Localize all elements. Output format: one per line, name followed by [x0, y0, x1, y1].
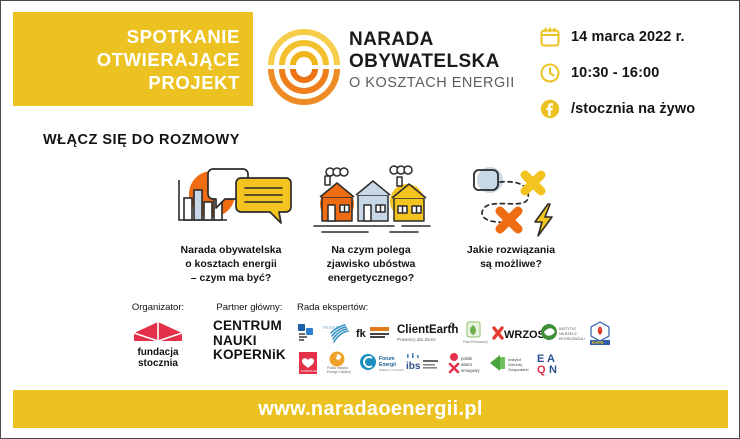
fundacja-stocznia-logo: fundacjastocznia — [129, 319, 187, 369]
experts-logo: FUNDACJA — [297, 350, 319, 376]
topic-panel-1: Narada obywatelskao kosztach energii– cz… — [161, 164, 301, 289]
svg-text:polski: polski — [461, 356, 472, 361]
experts-logo: Instytut Zielonej Gospodarki — [488, 350, 530, 376]
svg-text:NA RZECZ: NA RZECZ — [559, 332, 578, 336]
brand-wordmark: NARADA OBYWATELSKA O KOSZTACH ENERGII — [349, 29, 515, 93]
topic-caption-3: Jakie rozwiązaniasą możliwe? — [467, 243, 555, 271]
brand-line-2: OBYWATELSKA — [349, 51, 515, 73]
experts-logo — [297, 320, 314, 346]
svg-text:fk: fk — [356, 328, 367, 340]
svg-text:KAPE: KAPE — [592, 340, 604, 345]
svg-text:EKOROZWOJU: EKOROZWOJU — [559, 337, 585, 341]
cnk-line-3: KOPERNiK — [213, 348, 286, 363]
event-social-text: /stocznia na żywo — [571, 101, 695, 117]
event-date-row: 14 marca 2022 r. — [539, 23, 695, 51]
organizer-block: Organizator: fundacjastocznia — [129, 302, 187, 369]
cnk-line-1: CENTRUM — [213, 319, 286, 334]
cnk-line-2: NAUKI — [213, 334, 286, 349]
experts-block: Rada ekspertów: FEnIKS — [297, 302, 627, 378]
event-social-row[interactable]: /stocznia na żywo — [539, 95, 695, 123]
brand-line-1: NARADA — [349, 29, 515, 51]
topic-caption-1: Narada obywatelskao kosztach energii– cz… — [181, 243, 282, 285]
svg-text:alarm: alarm — [461, 362, 472, 367]
svg-text:Q: Q — [537, 364, 546, 376]
experts-logo: ClientEarth Prawnicy dla Ziemi — [397, 320, 455, 346]
main-partner-label: Partner główny: — [213, 302, 286, 313]
experts-logo: KAPE — [589, 320, 611, 346]
experts-logo: INSTYTUT NA RZECZ EKOROZWOJU — [540, 320, 582, 346]
event-date-text: 14 marca 2022 r. — [571, 29, 685, 45]
hero-line-1: SPOTKANIE — [97, 25, 240, 48]
svg-text:N: N — [549, 364, 557, 376]
hero-line-3: PROJEKT — [97, 71, 240, 94]
experts-logo: FEnIKS — [321, 320, 349, 346]
calendar-icon — [539, 27, 560, 48]
houses-smoke-illustration — [306, 164, 436, 236]
experts-logo-row-2: FUNDACJA Polski Instytut Energii Cieplne… — [297, 348, 627, 378]
experts-logo: fk — [356, 320, 390, 346]
experts-logo: Fala Renowacji — [462, 320, 484, 346]
experts-logo: Polski Instytut Energii Cieplnej — [326, 350, 352, 376]
svg-text:Fala Renowacji: Fala Renowacji — [463, 340, 488, 344]
page-title: WŁĄCZ SIĘ DO ROZMOWY — [43, 132, 240, 148]
svg-text:WRZOS: WRZOS — [504, 329, 545, 341]
facebook-icon[interactable] — [539, 99, 560, 120]
experts-logo: WRZOS — [491, 320, 533, 346]
fundacja-stocznia-wordmark: fundacjastocznia — [129, 347, 187, 369]
organizer-label: Organizator: — [129, 302, 187, 313]
topics-row: Narada obywatelskao kosztach energii– cz… — [161, 164, 581, 289]
path-crosses-bolt-illustration — [456, 164, 566, 236]
clock-icon — [539, 63, 560, 84]
poster-canvas: SPOTKANIE OTWIERAJĄCE PROJEKT NARADA OBY… — [0, 0, 740, 439]
svg-text:ENERGY FORUM: ENERGY FORUM — [379, 368, 404, 372]
experts-logo: ibs — [406, 350, 440, 376]
topic-caption-2: Na czym polegazjawisko ubóstwaenergetycz… — [327, 243, 416, 285]
chart-speech-bubbles-illustration — [165, 164, 297, 236]
experts-label: Rada ekspertów: — [297, 302, 627, 313]
experts-logo: E A Q N — [537, 350, 565, 376]
svg-text:ibs: ibs — [406, 361, 421, 372]
hero-banner: SPOTKANIE OTWIERAJĄCE PROJEKT — [13, 12, 253, 106]
experts-logo: Forum Energii ENERGY FORUM — [359, 350, 399, 376]
footer-url-bar[interactable]: www.naradaoenergii.pl — [13, 390, 728, 428]
topic-panel-2: Na czym polegazjawisko ubóstwaenergetycz… — [301, 164, 441, 289]
svg-text:smogowy: smogowy — [461, 368, 480, 373]
svg-text:Prawnicy dla Ziemi: Prawnicy dla Ziemi — [397, 337, 436, 342]
svg-text:FUNDACJA: FUNDACJA — [301, 369, 317, 373]
concentric-arcs-logo — [267, 20, 341, 106]
brand-line-3: O KOSZTACH ENERGII — [349, 74, 515, 93]
event-time-text: 10:30 - 16:00 — [571, 65, 659, 81]
svg-text:Gospodarki: Gospodarki — [508, 367, 529, 372]
cnk-logo: CENTRUM NAUKI KOPERNiK — [213, 319, 286, 363]
svg-text:INSTYTUT: INSTYTUT — [559, 327, 577, 331]
hero-title: SPOTKANIE OTWIERAJĄCE PROJEKT — [97, 25, 240, 94]
svg-text:Energii Cieplnej: Energii Cieplnej — [327, 370, 351, 374]
experts-logo: polski alarm smogowy — [447, 350, 481, 376]
topic-panel-3: Jakie rozwiązaniasą możliwe? — [441, 164, 581, 289]
website-url[interactable]: www.naradaoenergii.pl — [258, 398, 483, 421]
main-partner-block: Partner główny: CENTRUM NAUKI KOPERNiK — [213, 302, 286, 363]
event-time-row: 10:30 - 16:00 — [539, 59, 695, 87]
experts-logo-row-1: FEnIKS fk — [297, 318, 627, 348]
hero-line-2: OTWIERAJĄCE — [97, 48, 240, 71]
event-details: 14 marca 2022 r. 10:30 - 16:00 /stocznia… — [539, 23, 695, 131]
svg-text:ClientEarth: ClientEarth — [397, 324, 458, 336]
